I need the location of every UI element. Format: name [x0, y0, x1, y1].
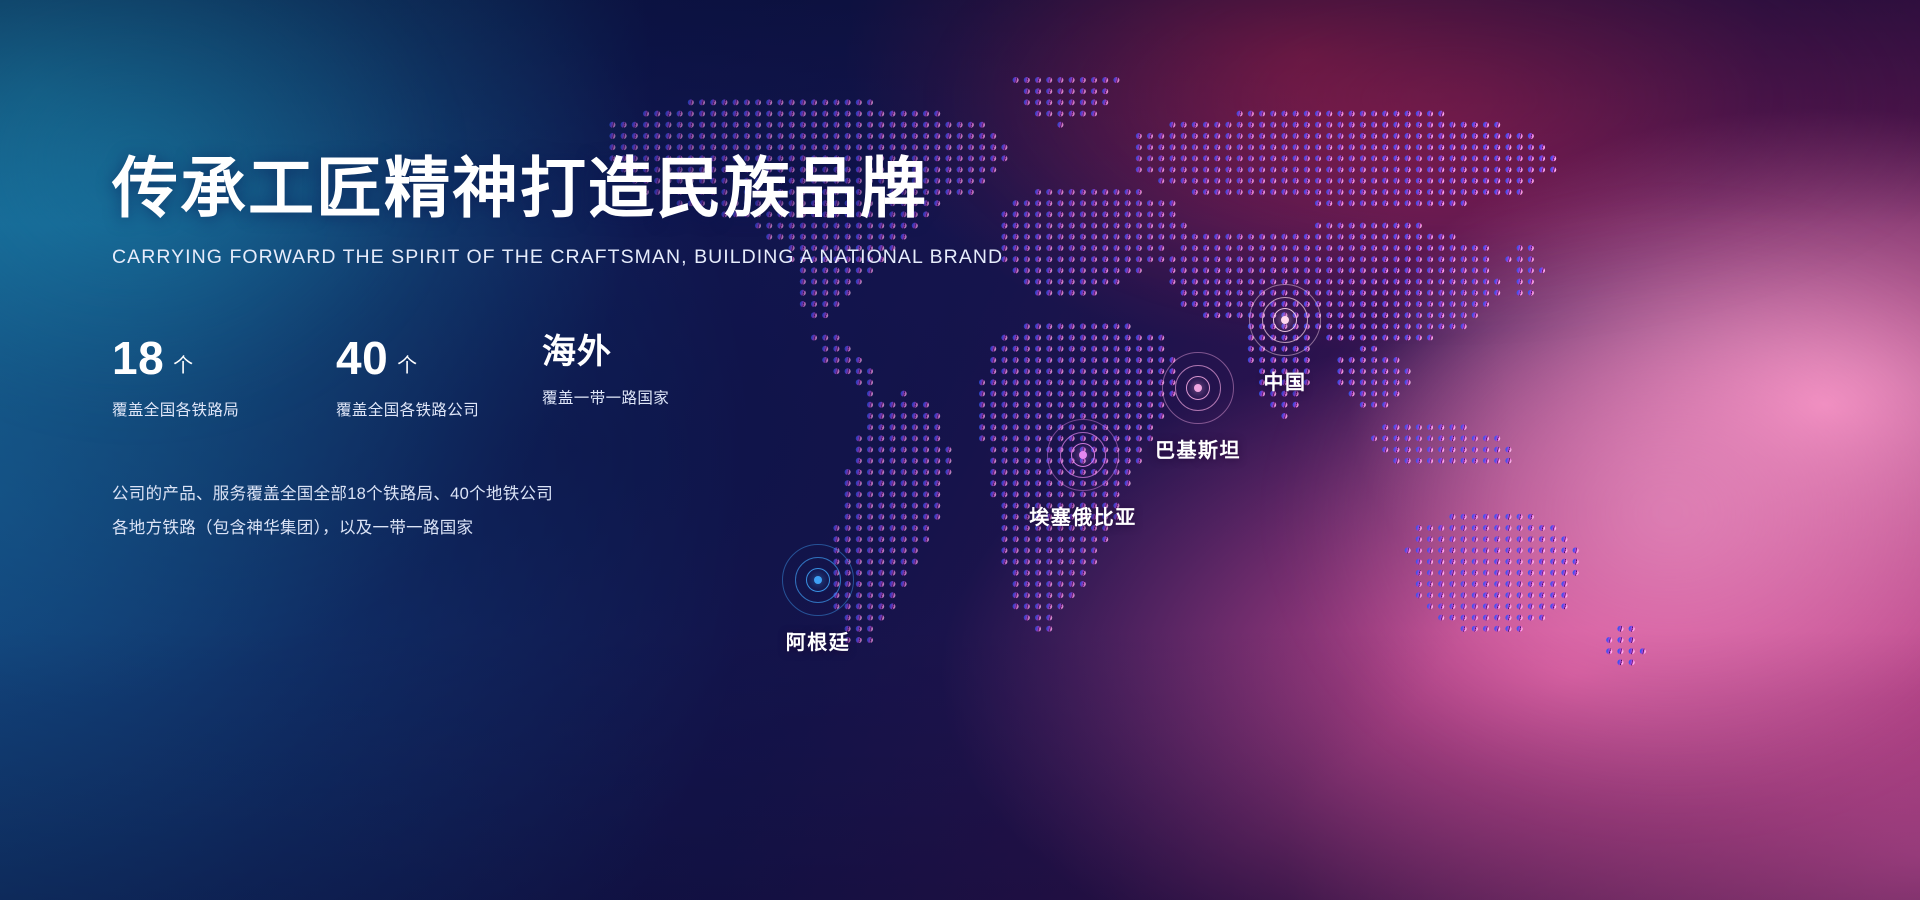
stat-unit-1: 个 — [397, 349, 417, 378]
marker-dot-icon — [1281, 316, 1289, 324]
banner-content: 传承工匠精神打造民族品牌 CARRYING FORWARD THE SPIRIT… — [112, 150, 972, 546]
marker-dot-icon — [1194, 384, 1202, 392]
description-paragraph: 公司的产品、服务覆盖全国全部18个铁路局、40个地铁公司 各地方铁路（包含神华集… — [112, 478, 972, 546]
stat-caption-2: 覆盖一带一路国家 — [542, 386, 766, 408]
banner-stage: 传承工匠精神打造民族品牌 CARRYING FORWARD THE SPIRIT… — [0, 0, 1920, 900]
stat-value-0: 18 个 — [112, 335, 336, 381]
stat-item-1: 40 个 覆盖全国各铁路公司 — [336, 335, 542, 420]
marker-dot-icon — [1079, 451, 1087, 459]
stat-value-2: 海外 — [542, 335, 766, 369]
page-subtitle: CARRYING FORWARD THE SPIRIT OF THE CRAFT… — [112, 246, 972, 269]
stat-number-2: 海外 — [542, 335, 612, 369]
stat-caption-1: 覆盖全国各铁路公司 — [336, 398, 542, 420]
marker-dot-icon — [814, 576, 822, 584]
stat-item-2: 海外 覆盖一带一路国家 — [542, 335, 766, 420]
stat-item-0: 18 个 覆盖全国各铁路局 — [112, 335, 336, 420]
marker-label-0: 中国 — [1264, 366, 1307, 395]
marker-label-3: 阿根廷 — [786, 626, 851, 655]
page-title: 传承工匠精神打造民族品牌 — [112, 150, 972, 228]
marker-label-1: 巴基斯坦 — [1155, 434, 1241, 463]
stat-caption-0: 覆盖全国各铁路局 — [112, 398, 336, 420]
marker-label-2: 埃塞俄比亚 — [1029, 501, 1137, 530]
stat-number-0: 18 — [112, 335, 164, 381]
stat-unit-0: 个 — [173, 349, 193, 378]
stats-row: 18 个 覆盖全国各铁路局 40 个 覆盖全国各铁路公司 海外 覆盖一带一路国家 — [112, 335, 972, 420]
stat-value-1: 40 个 — [336, 335, 542, 381]
stat-number-1: 40 — [336, 335, 388, 381]
